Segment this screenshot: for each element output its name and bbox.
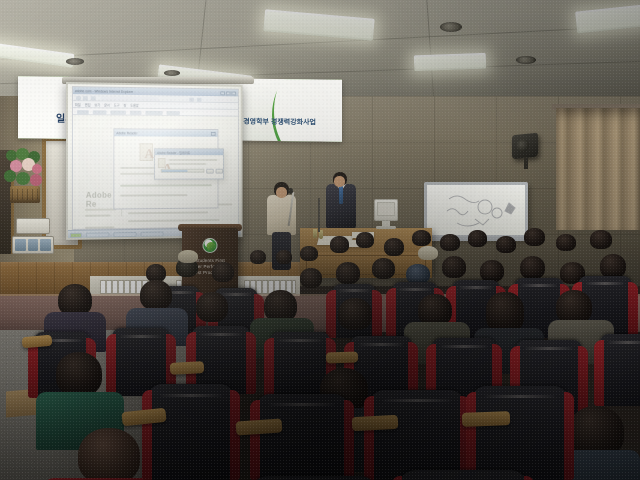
audience-head — [384, 238, 404, 256]
auditorium-photo: 2 술대회 일시 경영학부 경쟁력강화사업 adobe.com - Window… — [0, 0, 640, 480]
audience-head — [330, 236, 349, 253]
audience-head — [212, 262, 234, 282]
audience-head — [140, 280, 172, 310]
seat-armrest — [326, 351, 358, 363]
audience-head — [468, 230, 487, 247]
wall-speaker-icon — [512, 133, 538, 160]
audience-head-cap — [178, 250, 198, 263]
speaker-bracket — [524, 157, 528, 169]
projected-desktop: adobe.com - Windows Internet Explorer 파일… — [68, 84, 241, 238]
seat-armrest — [352, 415, 399, 431]
audience-head-cap — [406, 264, 430, 284]
audience-head — [276, 250, 292, 264]
microphone-head-icon — [288, 188, 293, 194]
desk-monitor — [374, 199, 398, 221]
speaker-at-desk — [325, 172, 359, 234]
projection-screen: adobe.com - Windows Internet Explorer 파일… — [66, 82, 243, 240]
audience-head — [496, 236, 516, 253]
ceiling-speaker-icon — [66, 58, 84, 65]
ceiling-light — [263, 9, 374, 41]
audience-head — [556, 290, 592, 324]
auditorium-seat[interactable] — [250, 476, 378, 480]
minimize-button[interactable] — [220, 91, 225, 95]
dialog-message — [168, 159, 217, 161]
audience-head — [412, 230, 431, 246]
ceiling-light — [575, 4, 640, 33]
audience-head-cap — [418, 246, 438, 260]
audience-head — [442, 256, 466, 278]
menu-item-help[interactable]: 도움말 — [130, 103, 139, 108]
audience-head-bald — [78, 428, 140, 480]
desk-microphone-stand — [318, 198, 320, 232]
menu-item-document[interactable]: 문서 — [104, 102, 110, 107]
ceiling-speaker-icon — [516, 56, 536, 64]
document-titlebar[interactable]: Adobe Reader — [114, 129, 217, 136]
audience-head-long — [486, 292, 524, 332]
auditorium-seat[interactable] — [398, 470, 528, 480]
window-curtain — [556, 108, 640, 230]
audience-head — [250, 250, 266, 264]
audience-head — [440, 234, 460, 251]
ceiling-speaker-icon — [164, 70, 180, 76]
maximize-button[interactable] — [226, 91, 231, 95]
audience-head — [56, 352, 102, 396]
seat-armrest — [462, 411, 510, 427]
browser-title: adobe.com - Windows Internet Explorer — [75, 89, 133, 94]
document-title: Adobe Reader — [116, 131, 137, 135]
auditorium-seat[interactable] — [148, 384, 234, 480]
audience-head — [372, 258, 395, 279]
menu-item-tools[interactable]: 도구 — [114, 103, 120, 108]
audience — [0, 228, 640, 480]
progress-bar — [161, 169, 205, 173]
menu-item-window[interactable]: 창 — [123, 103, 126, 108]
dialog-ok-button[interactable] — [206, 169, 213, 174]
ceiling-light — [414, 53, 487, 72]
pdf-thumb-icon — [140, 143, 153, 161]
audience-head — [300, 268, 322, 288]
audience-head — [590, 230, 612, 249]
audience-head — [300, 246, 318, 261]
suited-speaker-face — [334, 176, 345, 187]
audience-head — [524, 228, 545, 246]
necktie — [339, 186, 343, 204]
dialog-icon — [158, 158, 166, 168]
audience-head — [556, 234, 576, 251]
audience-head — [520, 256, 545, 279]
menu-item-file[interactable]: 파일 — [75, 102, 81, 107]
close-icon[interactable] — [211, 131, 216, 135]
audience-head — [196, 292, 228, 322]
ceiling-speaker-icon — [440, 22, 462, 32]
audience-head — [336, 262, 360, 284]
audience-head — [338, 298, 372, 330]
audience-head — [600, 254, 626, 278]
auditorium-seat[interactable] — [370, 390, 464, 480]
dialog-cancel-button[interactable] — [216, 169, 223, 174]
auditorium-seat[interactable] — [256, 394, 348, 480]
update-dialog[interactable]: Adobe Reader - 업데이트 — [154, 148, 224, 179]
close-icon[interactable] — [231, 91, 236, 95]
menu-item-view[interactable]: 보기 — [94, 102, 100, 107]
menu-item-edit[interactable]: 편집 — [85, 102, 91, 107]
dialog-title: Adobe Reader - 업데이트 — [157, 150, 190, 155]
flower-arrangement — [2, 148, 48, 206]
auditorium-seat[interactable] — [600, 334, 640, 406]
speaker-face — [276, 187, 287, 198]
audience-head — [480, 260, 504, 282]
auditorium-seat[interactable] — [472, 386, 568, 480]
banner-subtitle-right: 경영학부 경쟁력강화사업 — [243, 117, 316, 128]
dialog-titlebar: Adobe Reader - 업데이트 — [155, 149, 223, 155]
seat-armrest — [170, 361, 205, 375]
browser-favorites-bar[interactable] — [73, 108, 238, 117]
ceiling-light — [0, 42, 75, 68]
audience-head — [356, 232, 374, 248]
